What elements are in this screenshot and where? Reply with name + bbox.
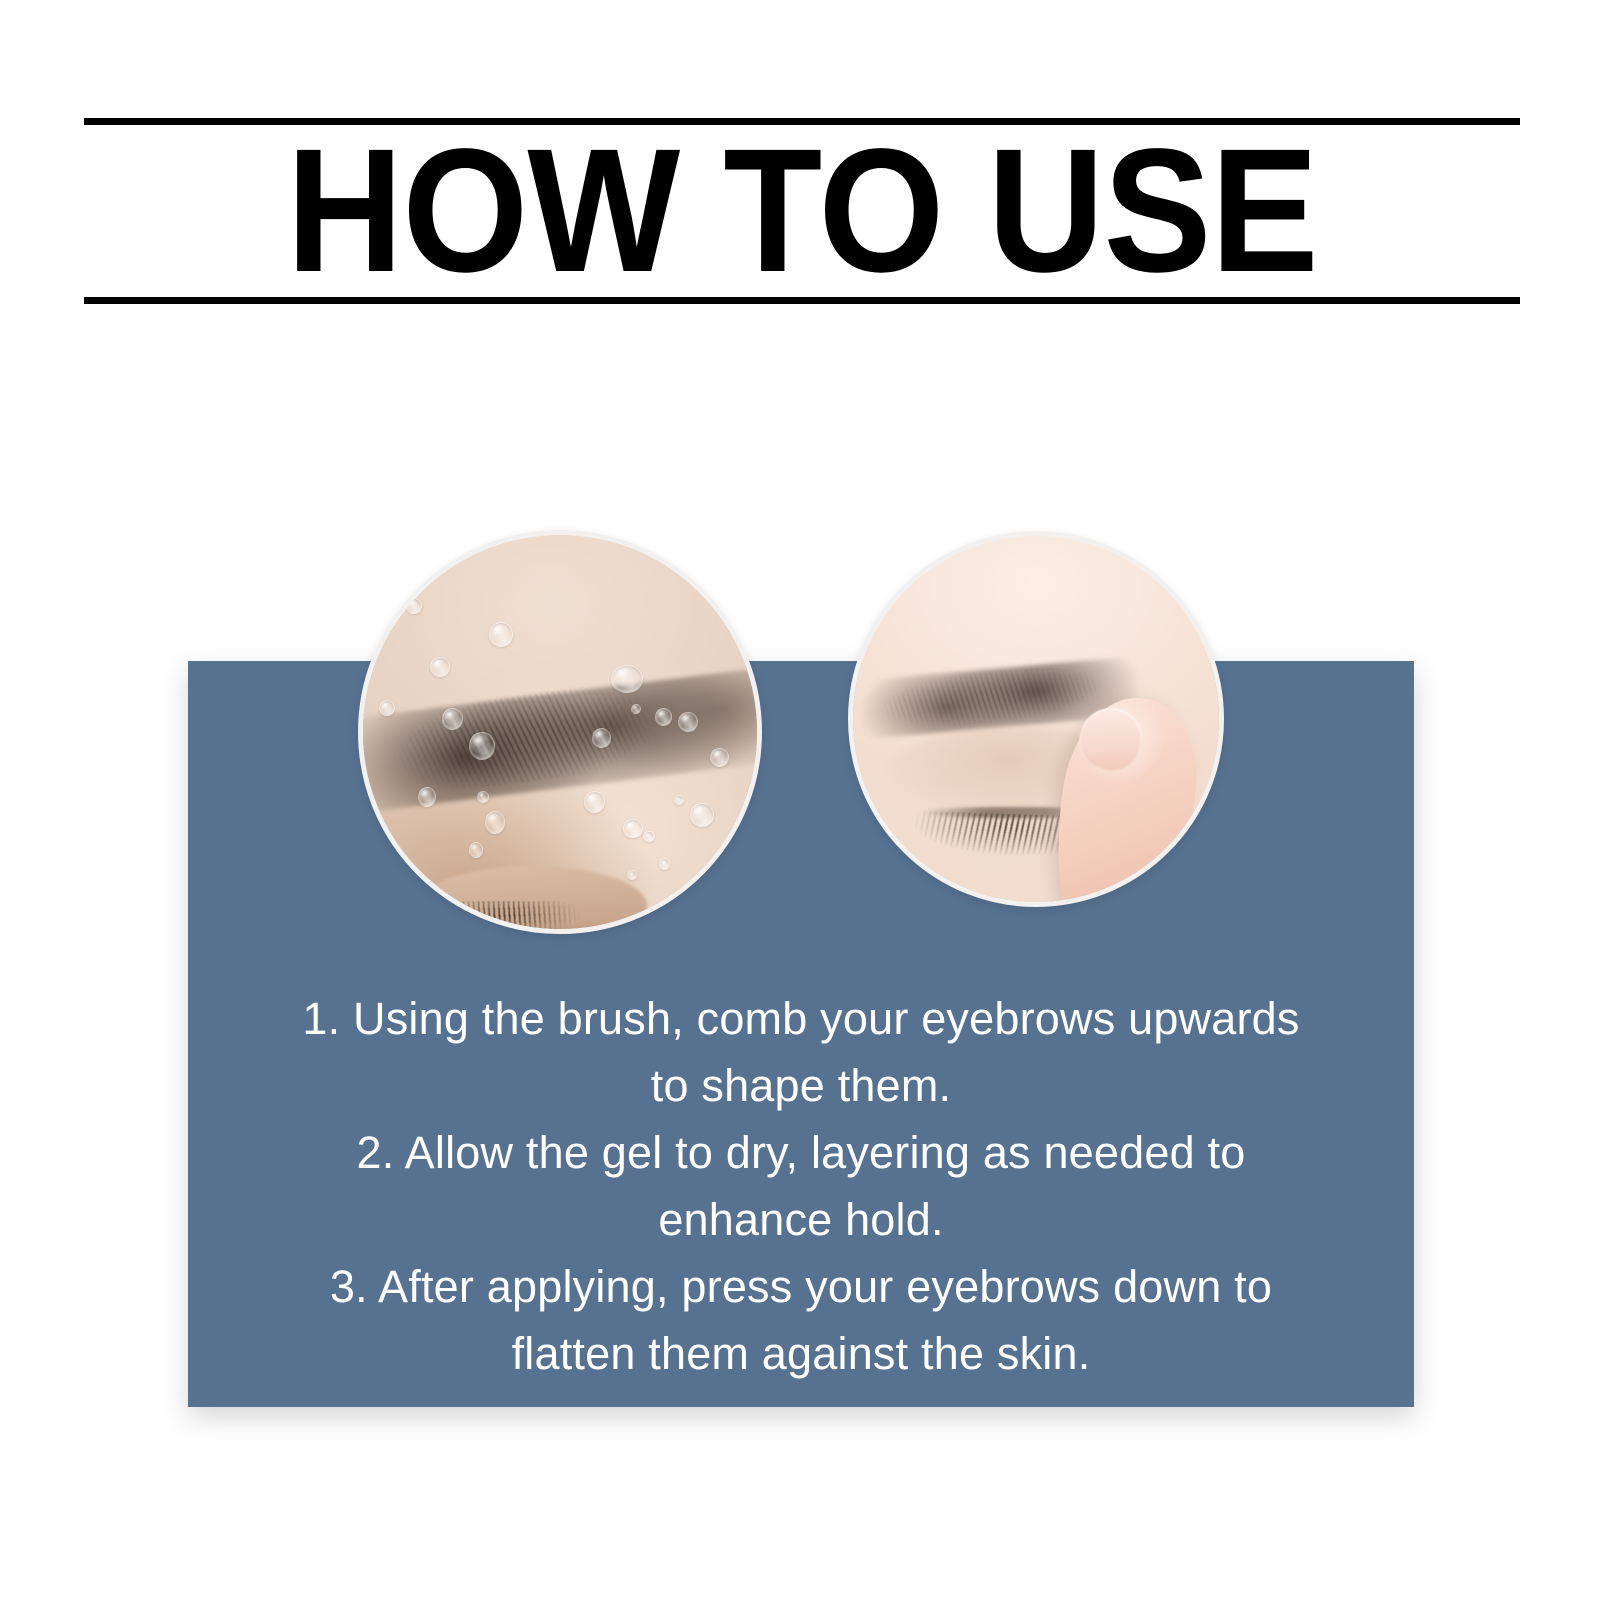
poster-canvas: HOW TO USE	[0, 0, 1600, 1600]
water-droplet	[406, 598, 422, 614]
water-droplet	[674, 795, 684, 805]
water-droplet	[430, 657, 450, 677]
water-droplet	[631, 704, 641, 714]
water-droplet	[469, 732, 495, 760]
page-title: HOW TO USE	[141, 135, 1462, 287]
photo-eyebrow-with-water-droplets	[358, 530, 762, 934]
water-droplet	[418, 787, 436, 807]
instruction-steps: 1. Using the brush, comb your eyebrows u…	[188, 985, 1414, 1387]
photo-left-artwork	[363, 535, 757, 929]
instruction-line: enhance hold.	[188, 1186, 1414, 1253]
instruction-line: 2. Allow the gel to dry, layering as nee…	[188, 1119, 1414, 1186]
water-droplet	[477, 791, 489, 803]
instruction-line: 1. Using the brush, comb your eyebrows u…	[188, 985, 1414, 1052]
water-droplet	[659, 858, 671, 870]
photo-right-artwork	[853, 536, 1219, 902]
water-droplet	[623, 819, 643, 839]
instruction-line: 3. After applying, press your eyebrows d…	[188, 1253, 1414, 1320]
water-droplet	[592, 728, 612, 748]
water-droplet	[584, 791, 606, 813]
instruction-line: flatten them against the skin.	[188, 1320, 1414, 1387]
water-droplet	[379, 700, 395, 716]
water-droplet	[655, 708, 673, 726]
photo-fingertip-pressing-eyebrow	[848, 531, 1224, 907]
water-droplet	[489, 622, 513, 648]
water-droplet	[643, 831, 655, 843]
water-droplet	[485, 811, 505, 835]
water-droplet	[611, 665, 643, 693]
water-droplet	[678, 712, 698, 732]
water-droplet	[690, 803, 714, 827]
header-block: HOW TO USE	[84, 118, 1520, 304]
instruction-line: to shape them.	[188, 1052, 1414, 1119]
title-rule-bottom	[84, 297, 1520, 304]
water-droplet	[627, 870, 637, 880]
